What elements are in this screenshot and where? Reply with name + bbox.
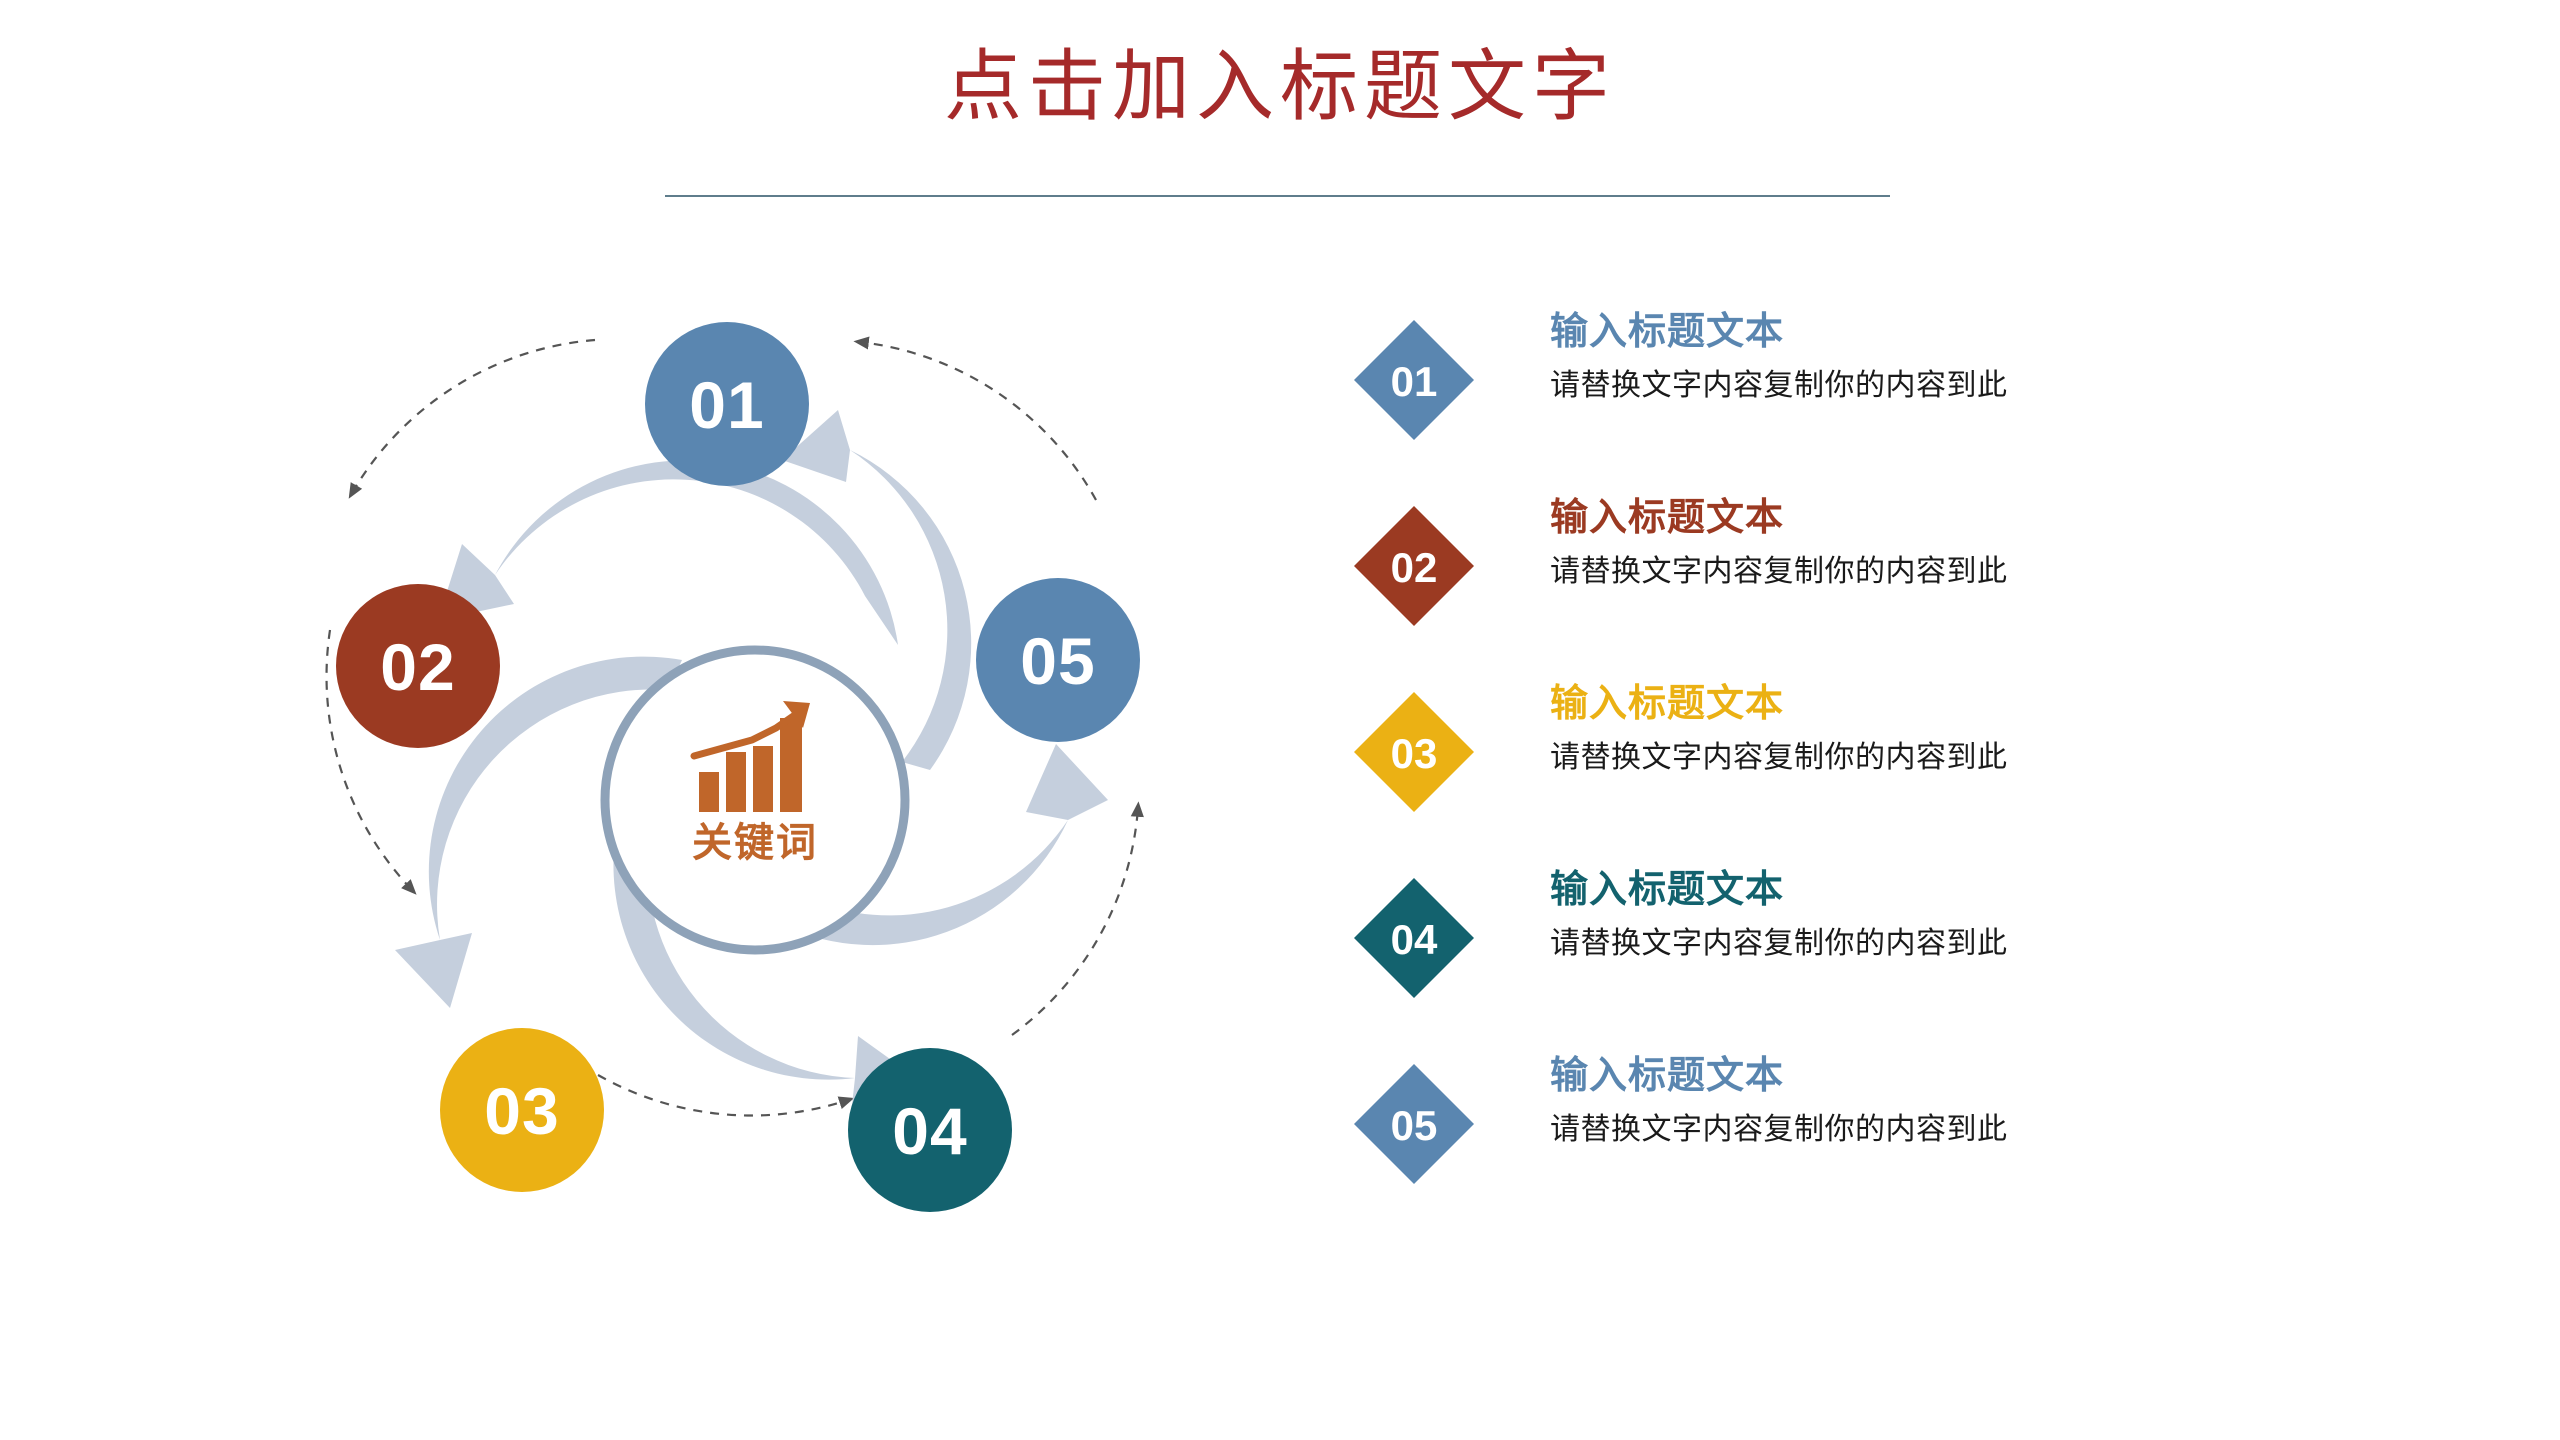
legend-diamond-02-label: 02	[1391, 544, 1438, 591]
dashed-arc-03-04	[598, 1075, 848, 1116]
legend-diamond-01-label: 01	[1391, 358, 1438, 405]
dashed-arc-01-02	[352, 340, 595, 493]
legend-list: 01 输入标题文本 请替换文字内容复制你的内容到此 02 输入标题文本 请替换文…	[1352, 312, 2452, 1242]
node-05-label: 05	[1020, 624, 1095, 698]
center-keyword-label: 关键词	[692, 821, 818, 865]
legend-diamond-05-label: 05	[1391, 1102, 1438, 1149]
legend-diamond-04-label: 04	[1391, 916, 1438, 963]
page-title: 点击加入标题文字	[660, 48, 1900, 126]
list-item[interactable]: 04 输入标题文本 请替换文字内容复制你的内容到此	[1352, 870, 2452, 1056]
legend-title-03: 输入标题文本	[1550, 684, 2400, 726]
dashed-arc-05-01	[860, 342, 1096, 500]
legend-diamond-05: 05	[1352, 1062, 1476, 1186]
legend-title-05: 输入标题文本	[1550, 1056, 2400, 1098]
legend-title-01: 输入标题文本	[1550, 312, 2400, 354]
node-04-label: 04	[892, 1094, 967, 1168]
legend-title-04: 输入标题文本	[1550, 870, 2400, 912]
legend-diamond-02: 02	[1352, 504, 1476, 628]
legend-diamond-01: 01	[1352, 318, 1476, 442]
legend-body-05: 请替换文字内容复制你的内容到此	[1550, 1112, 2400, 1148]
legend-body-02: 请替换文字内容复制你的内容到此	[1550, 554, 2400, 590]
list-item[interactable]: 05 输入标题文本 请替换文字内容复制你的内容到此	[1352, 1056, 2452, 1242]
five-step-cycle-diagram: 关键词 01 02 03 04 05	[290, 300, 1220, 1220]
center-node: 关键词	[605, 650, 905, 950]
node-03-label: 03	[484, 1074, 559, 1148]
node-05[interactable]: 05	[976, 578, 1140, 742]
node-03[interactable]: 03	[440, 1028, 604, 1192]
node-02[interactable]: 02	[336, 584, 500, 748]
legend-body-01: 请替换文字内容复制你的内容到此	[1550, 368, 2400, 404]
node-04[interactable]: 04	[848, 1048, 1012, 1212]
list-item[interactable]: 02 输入标题文本 请替换文字内容复制你的内容到此	[1352, 498, 2452, 684]
list-item[interactable]: 03 输入标题文本 请替换文字内容复制你的内容到此	[1352, 684, 2452, 870]
node-01[interactable]: 01	[645, 322, 809, 486]
list-item[interactable]: 01 输入标题文本 请替换文字内容复制你的内容到此	[1352, 312, 2452, 498]
legend-diamond-03-label: 03	[1391, 730, 1438, 777]
title-divider	[665, 195, 1890, 197]
node-02-label: 02	[380, 630, 455, 704]
dashed-arc-04-05	[1012, 808, 1138, 1035]
legend-title-02: 输入标题文本	[1550, 498, 2400, 540]
legend-diamond-04: 04	[1352, 876, 1476, 1000]
node-01-label: 01	[689, 368, 764, 442]
legend-body-03: 请替换文字内容复制你的内容到此	[1550, 740, 2400, 776]
legend-diamond-03: 03	[1352, 690, 1476, 814]
legend-body-04: 请替换文字内容复制你的内容到此	[1550, 926, 2400, 962]
cycle-arrow-1	[438, 460, 898, 645]
